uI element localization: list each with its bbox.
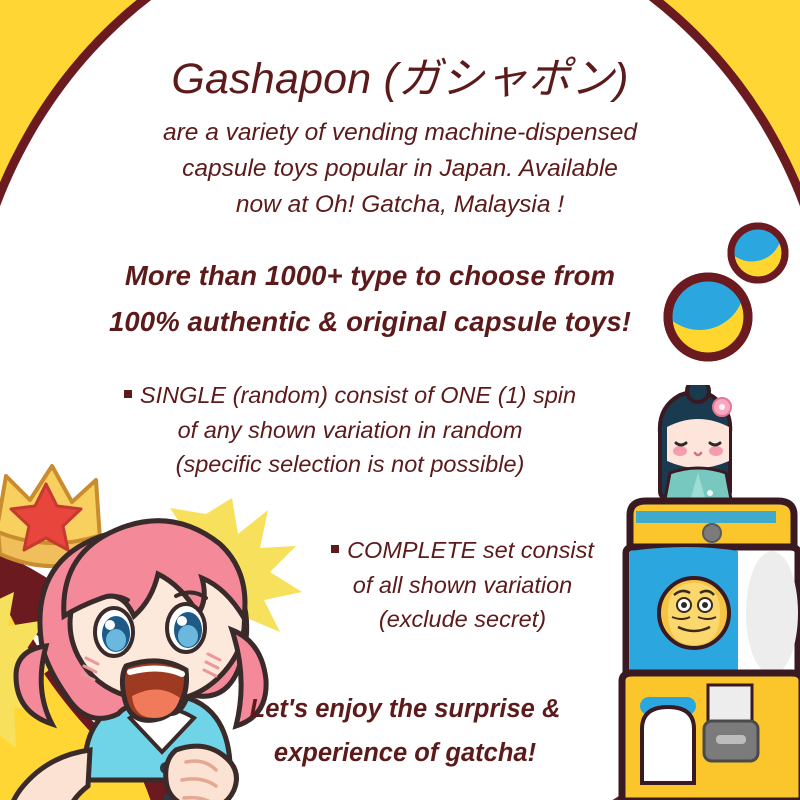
complete-option-line-2: of all shown variation [265,568,660,603]
gashapon-promo-poster: Gashapon (ガシャポン) are a variety of vendin… [0,0,800,800]
bullet-square-icon [124,390,132,398]
single-option-line-2: of any shown variation in random [85,413,615,448]
intro-line: are a variety of vending machine-dispens… [60,115,740,151]
headline-block: More than 1000+ type to choose from 100%… [30,253,710,344]
single-option-line-1: SINGLE (random) consist of ONE (1) spin [85,378,615,413]
headline-line: 100% authentic & original capsule toys! [30,299,710,345]
kokeshi-doll [660,385,734,515]
single-option-line-3: (specific selection is not possible) [85,447,615,482]
page-title: Gashapon (ガシャポン) [0,57,800,102]
single-option-block: SINGLE (random) consist of ONE (1) spin … [85,378,615,482]
complete-option-line-3: (exclude secret) [265,602,660,637]
complete-option-block: COMPLETE set consist of all shown variat… [265,533,660,637]
single-option-text: SINGLE (random) consist of ONE (1) spin [140,382,576,408]
headline-line: More than 1000+ type to choose from [30,253,710,299]
complete-option-line-1: COMPLETE set consist [265,533,660,568]
daruma-capsule-toy [659,578,729,648]
girl-left-arm [8,750,90,800]
machine-capsule-door [642,707,694,783]
bullet-square-icon [331,545,339,553]
closing-block: Let's enjoy the surprise & experience of… [190,688,620,776]
closing-line: Let's enjoy the surprise & [190,688,620,732]
closing-line: experience of gatcha! [190,732,620,776]
complete-option-text: COMPLETE set consist [347,537,594,563]
intro-paragraph: are a variety of vending machine-dispens… [60,115,740,222]
intro-line: now at Oh! Gatcha, Malaysia ! [60,187,740,223]
intro-line: capsule toys popular in Japan. Available [60,151,740,187]
gashapon-capsule-small [731,226,785,280]
machine-top-knob [703,524,721,542]
